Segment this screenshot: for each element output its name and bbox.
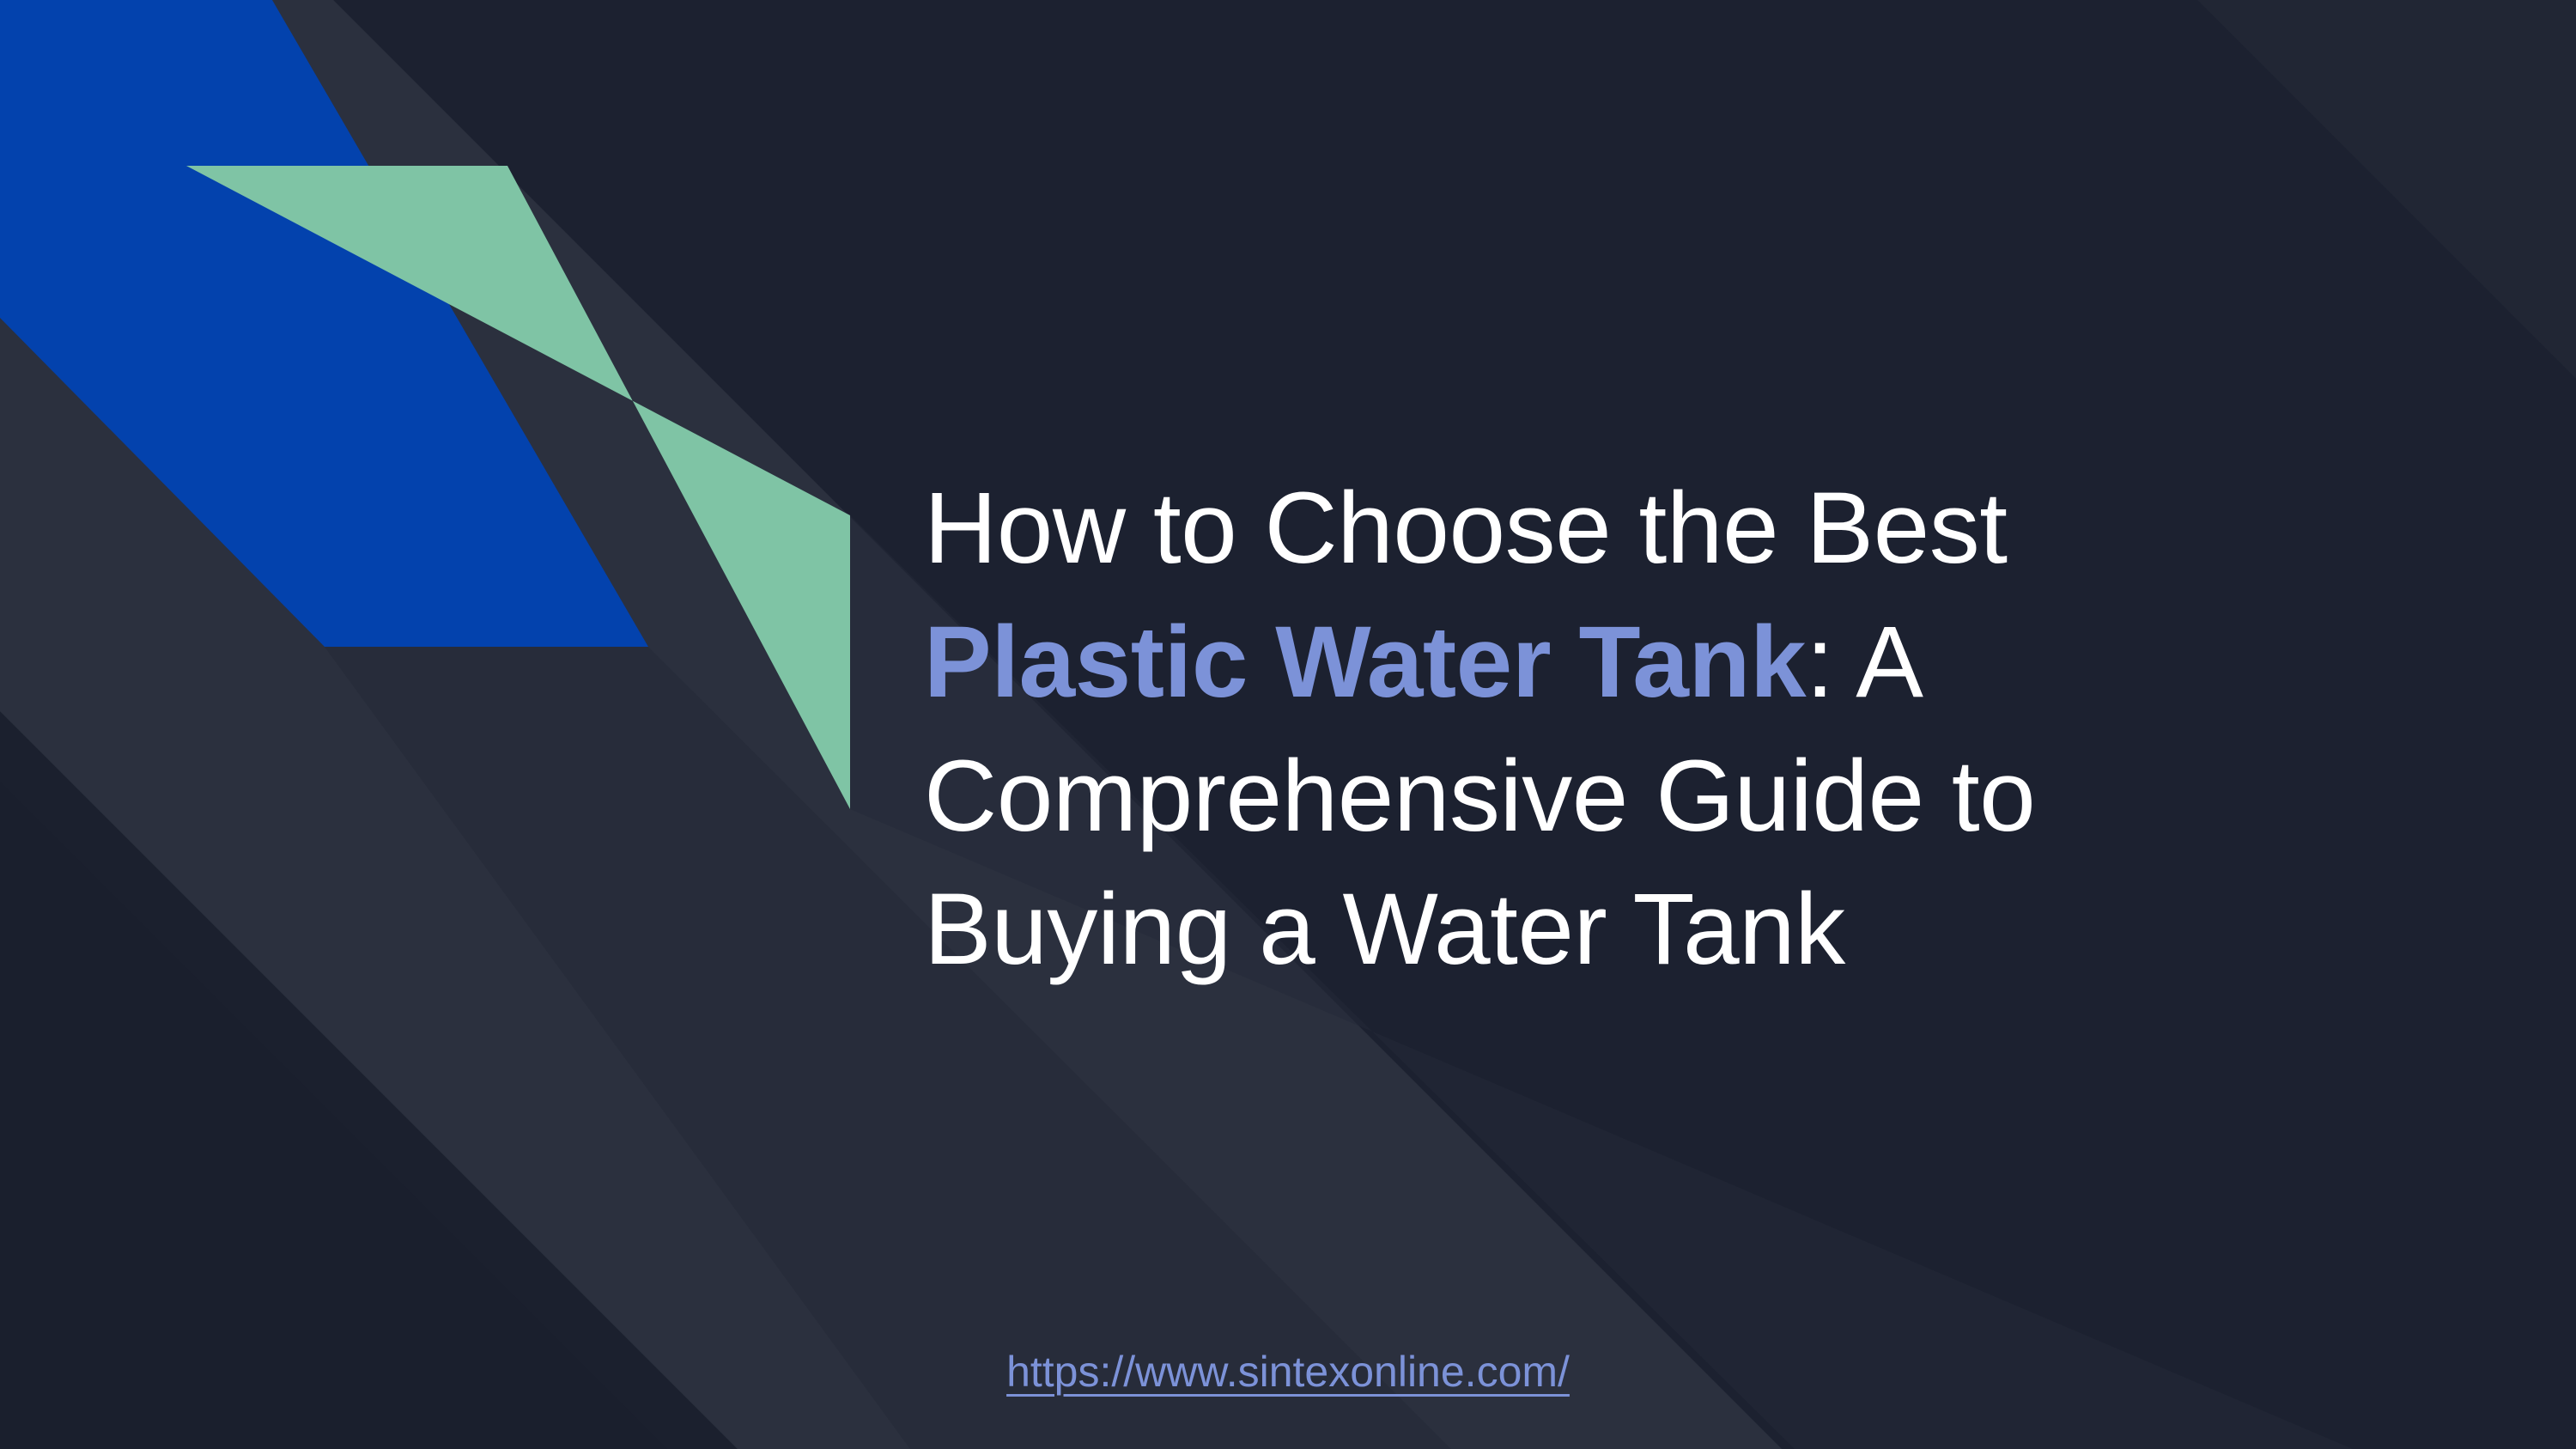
website-link[interactable]: https://www.sintexonline.com/	[1006, 1348, 1570, 1396]
title-text-part-1: How to Choose the Best	[924, 472, 2007, 585]
footer-link-container: https://www.sintexonline.com/	[0, 1347, 2576, 1397]
title-block: How to Choose the Best Plastic Water Tan…	[924, 462, 2349, 997]
page-title: How to Choose the Best Plastic Water Tan…	[924, 462, 2349, 997]
presentation-slide: How to Choose the Best Plastic Water Tan…	[0, 0, 2576, 1449]
title-highlight-plastic-water-tank: Plastic Water Tank	[924, 606, 1806, 719]
